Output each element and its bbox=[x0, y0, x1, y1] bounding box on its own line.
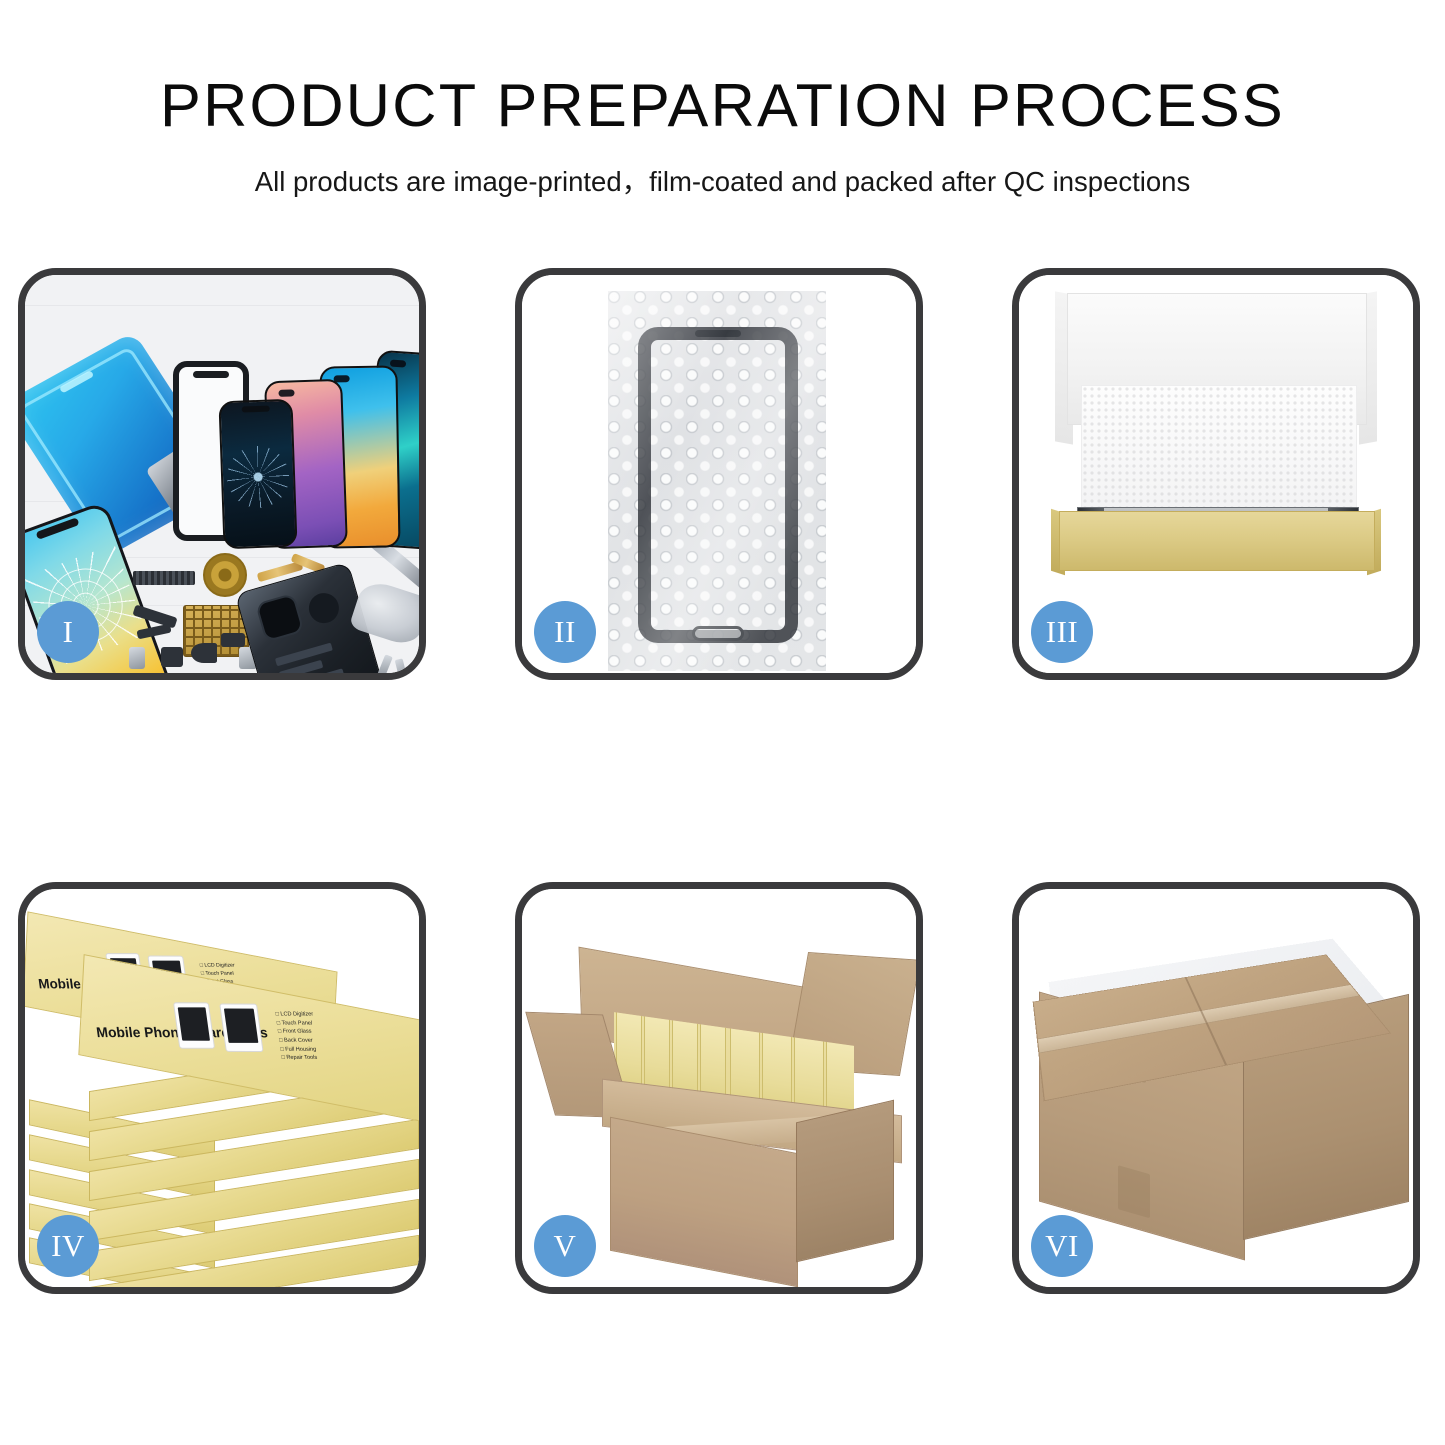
checklist-item: Touch Panel bbox=[276, 1019, 315, 1028]
process-steps-grid: I II bbox=[18, 268, 1430, 1308]
phone-cracked-screen bbox=[218, 399, 297, 549]
step-badge: III bbox=[1031, 601, 1093, 663]
step-panel-stacked-boxes[interactable]: Mobile Phone Spare Parts LCD Digitizer T… bbox=[18, 882, 426, 1294]
housing-detail bbox=[275, 643, 333, 667]
step-panel-sealed-carton[interactable]: VI bbox=[1012, 882, 1420, 1294]
crack-pattern bbox=[226, 445, 290, 509]
page-subtitle: All products are image-printed，film-coat… bbox=[0, 159, 1445, 199]
retail-box-checklist: LCD Digitizer Touch Panel Front Glass Ba… bbox=[275, 1010, 320, 1062]
bubble-wrap-sheet bbox=[608, 291, 826, 671]
step-panel-open-carton[interactable]: V bbox=[515, 882, 923, 1294]
step-badge: IV bbox=[37, 1215, 99, 1277]
carton-tape-patch bbox=[1118, 1165, 1150, 1218]
sim-tray-part bbox=[129, 647, 145, 669]
checklist-item: Repair Tools bbox=[281, 1054, 320, 1063]
housing-detail bbox=[305, 590, 342, 627]
checklist-item: LCD Digitizer bbox=[199, 962, 235, 970]
checklist-item: Full Housing bbox=[280, 1045, 319, 1054]
page-title: PRODUCT PREPARATION PROCESS bbox=[0, 74, 1445, 139]
foam-insert bbox=[1081, 385, 1357, 517]
punch-hole-icon bbox=[390, 360, 406, 368]
speaker-mesh-part bbox=[133, 571, 195, 585]
box-tray bbox=[1059, 511, 1375, 571]
header: PRODUCT PREPARATION PROCESS All products… bbox=[0, 0, 1445, 199]
step-badge: I bbox=[37, 601, 99, 663]
carton-side-face bbox=[796, 1100, 894, 1263]
plastic-sheen bbox=[608, 291, 826, 671]
checklist-item: Back Cover bbox=[279, 1037, 318, 1046]
step-panel-spare-parts[interactable]: I bbox=[18, 268, 426, 680]
box-thumbnail bbox=[219, 1004, 263, 1052]
taptic-part bbox=[191, 643, 217, 663]
wireless-charging-coil-part bbox=[203, 553, 247, 597]
vibrator-part bbox=[161, 647, 183, 667]
notch-icon bbox=[242, 406, 270, 413]
box-thumbnail bbox=[173, 1002, 215, 1048]
step-badge: VI bbox=[1031, 1215, 1093, 1277]
step-badge: V bbox=[534, 1215, 596, 1277]
step-panel-bubble-wrap[interactable]: II bbox=[515, 268, 923, 680]
sealing-tape bbox=[1038, 985, 1360, 1054]
phone-fan-group bbox=[221, 333, 419, 548]
punch-hole-icon bbox=[278, 389, 294, 397]
checklist-item: LCD Digitizer bbox=[275, 1010, 314, 1019]
step-panel-mailer-box[interactable]: III bbox=[1012, 268, 1420, 680]
shelf-line bbox=[25, 305, 419, 306]
camera-lens-icon bbox=[255, 593, 304, 642]
ic-chip-part bbox=[221, 633, 245, 647]
step-badge: II bbox=[534, 601, 596, 663]
checklist-item: Touch Panel bbox=[200, 970, 236, 978]
infographic-page: PRODUCT PREPARATION PROCESS All products… bbox=[0, 0, 1445, 1445]
checklist-item: Front Glass bbox=[277, 1028, 316, 1037]
